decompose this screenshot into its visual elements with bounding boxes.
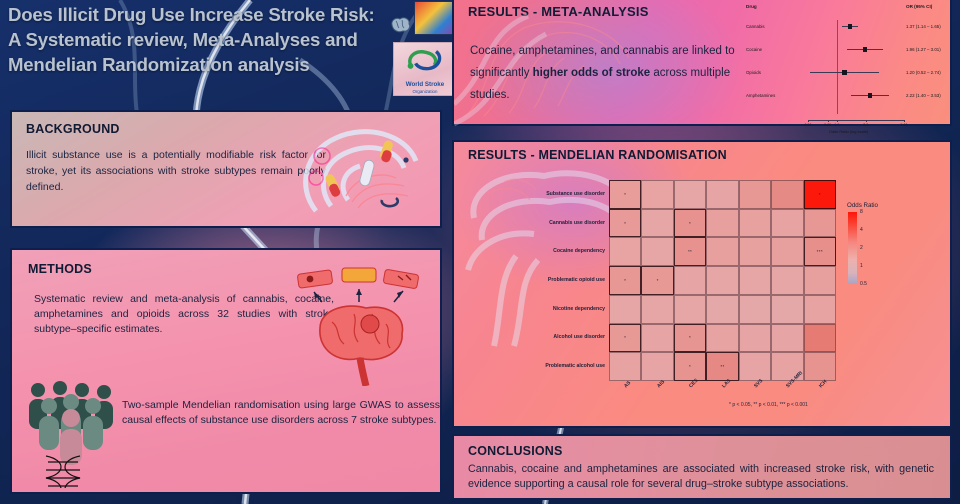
heatmap-cell: ** bbox=[674, 237, 706, 266]
background-text: Illicit substance use is a potentially m… bbox=[26, 147, 326, 195]
forest-col-header-drug: Drug bbox=[746, 4, 757, 9]
heatmap-cell: * bbox=[641, 266, 673, 295]
heatmap-cell bbox=[609, 295, 641, 324]
title-line-2: A Systematic review, Meta-Analyses and bbox=[8, 27, 408, 52]
heatmap-column-label: AS bbox=[623, 380, 632, 389]
heatmap-row-label: Cocaine dependency bbox=[553, 248, 605, 254]
forest-row-or-value: 2.22 (1.40 – 3.53) bbox=[906, 93, 941, 98]
wso-subname: Organization bbox=[394, 89, 456, 94]
forest-row-label: Amphetamines bbox=[746, 93, 775, 98]
heatmap-cell bbox=[706, 324, 738, 353]
forest-x-tick-label: 0.50 bbox=[798, 123, 818, 127]
conclusions-heading: CONCLUSIONS bbox=[468, 444, 950, 458]
heatmap-cell: * bbox=[609, 324, 641, 353]
heatmap-cell bbox=[804, 324, 836, 353]
title-line-3: Mendelian Randomization analysis bbox=[8, 52, 408, 77]
meta-text-highlight: higher odds of stroke bbox=[533, 67, 651, 79]
forest-row-or-value: 1.37 (1.14 – 1.65) bbox=[906, 24, 941, 29]
forest-x-tick-label: 1.0 bbox=[827, 123, 847, 127]
wso-name: World Stroke bbox=[394, 81, 456, 88]
heatmap-cell bbox=[739, 237, 771, 266]
heatmap-cell bbox=[771, 209, 803, 238]
heatmap-cell bbox=[641, 324, 673, 353]
heatmap-row-label: Alcohol use disorder bbox=[553, 334, 605, 340]
heatmap-cell bbox=[771, 266, 803, 295]
heatmap-cell bbox=[739, 324, 771, 353]
heatmap-cell: *** bbox=[804, 237, 836, 266]
brain-icon bbox=[388, 14, 414, 36]
heatmap-legend-tick: 8 bbox=[860, 209, 863, 215]
forest-x-tick-label: 5.00 bbox=[894, 123, 914, 127]
heatmap-cell: * bbox=[804, 180, 836, 209]
poster-title: Does Illicit Drug Use Increase Stroke Ri… bbox=[8, 2, 408, 77]
heatmap-cell bbox=[739, 209, 771, 238]
heatmap-legend-tick: 0.5 bbox=[860, 281, 867, 287]
heatmap-cell bbox=[674, 266, 706, 295]
heatmap-cell bbox=[609, 237, 641, 266]
heatmap-row-label: Problematic opioid use bbox=[548, 277, 605, 283]
forest-plot: DrugOR (95% CI)Cannabis1.37 (1.14 – 1.65… bbox=[746, 0, 951, 126]
heatmap-row-label: Substance use disorder bbox=[546, 191, 605, 197]
heatmap-significance-note: * p < 0.05, ** p < 0.01, *** p < 0.001 bbox=[729, 402, 808, 408]
heatmap-legend-tick: 4 bbox=[860, 227, 863, 233]
heatmap-cell bbox=[641, 209, 673, 238]
heatmap-row-label: Problematic alcohol use bbox=[545, 363, 605, 369]
methods-text-2: Two-sample Mendelian randomisation using… bbox=[122, 398, 440, 428]
heatmap-row-label: Cannabis use disorder bbox=[549, 220, 605, 226]
wso-swirl-icon bbox=[394, 43, 456, 77]
heatmap-cell bbox=[609, 352, 641, 381]
heatmap-legend-tick: 2 bbox=[860, 245, 863, 251]
heatmap-cell bbox=[641, 295, 673, 324]
forest-point-estimate bbox=[842, 70, 847, 75]
forest-row-label: Cannabis bbox=[746, 24, 765, 29]
heatmap-chart: **************** Odds Ratio 84210.5 * p … bbox=[479, 180, 934, 420]
forest-null-line bbox=[837, 20, 838, 114]
forest-x-tick bbox=[828, 120, 829, 122]
meta-analysis-text: Cocaine, amphetamines, and cannabis are … bbox=[470, 40, 745, 106]
heatmap-cell bbox=[804, 352, 836, 381]
forest-row-or-value: 1.20 (0.52 – 2.74) bbox=[906, 70, 941, 75]
heatmap-cell bbox=[804, 295, 836, 324]
heatmap-cell bbox=[771, 237, 803, 266]
heatmap-cell bbox=[706, 266, 738, 295]
heatmap-cell: * bbox=[674, 324, 706, 353]
forest-row-label: Opioids bbox=[746, 70, 761, 75]
forest-row-or-value: 1.96 (1.27 – 3.01) bbox=[906, 47, 941, 52]
heatmap-legend: Odds Ratio 84210.5 bbox=[847, 202, 917, 211]
heatmap-legend-tick: 1 bbox=[860, 263, 863, 269]
heatmap-cell bbox=[706, 209, 738, 238]
forest-x-tick bbox=[866, 120, 867, 122]
heatmap-cell: * bbox=[674, 352, 706, 381]
heatmap-cell bbox=[771, 180, 803, 209]
forest-point-estimate bbox=[863, 47, 868, 52]
methods-panel: METHODS Systematic review and meta-analy… bbox=[10, 248, 442, 494]
heatmap-legend-title: Odds Ratio bbox=[847, 202, 917, 209]
results-meta-analysis-panel: RESULTS - META-ANALYSIS Cocaine, ampheta… bbox=[452, 0, 952, 126]
heatmap-cell: * bbox=[609, 180, 641, 209]
title-line-1: Does Illicit Drug Use Increase Stroke Ri… bbox=[8, 2, 408, 27]
journal-cover-logo bbox=[414, 1, 456, 35]
heatmap-cell bbox=[706, 295, 738, 324]
heatmap-cell bbox=[771, 324, 803, 353]
forest-x-tick bbox=[904, 120, 905, 122]
heatmap-cell bbox=[739, 295, 771, 324]
forest-row-label: Cocaine bbox=[746, 47, 762, 52]
forest-x-axis bbox=[808, 120, 904, 121]
heatmap-cell: ** bbox=[706, 352, 738, 381]
conclusions-text: Cannabis, cocaine and amphetamines are a… bbox=[468, 462, 934, 492]
heatmap-cell bbox=[641, 237, 673, 266]
heatmap-cell bbox=[804, 266, 836, 295]
background-panel: BACKGROUND Illicit substance use is a po… bbox=[10, 110, 442, 228]
heatmap-row-label: Nicotine dependency bbox=[553, 306, 605, 312]
heatmap-cell bbox=[674, 295, 706, 324]
poster-canvas: Does Illicit Drug Use Increase Stroke Ri… bbox=[0, 0, 960, 504]
brain-vessel-illustration bbox=[284, 258, 434, 386]
heatmap-cell bbox=[739, 180, 771, 209]
forest-x-tick bbox=[808, 120, 809, 122]
results-mendelian-randomisation-panel: RESULTS - MENDELIAN RANDOMISATION ******… bbox=[452, 140, 952, 428]
heatmap-cell bbox=[739, 266, 771, 295]
heatmap-cell: * bbox=[609, 266, 641, 295]
heatmap-cell: * bbox=[609, 209, 641, 238]
world-stroke-organization-logo: World Stroke Organization bbox=[393, 42, 457, 96]
forest-col-header-or: OR (95% CI) bbox=[906, 4, 932, 9]
heatmap-cell bbox=[641, 352, 673, 381]
journal-cover-text bbox=[415, 2, 455, 4]
heatmap-cell bbox=[641, 180, 673, 209]
heatmap-cell bbox=[739, 352, 771, 381]
heatmap-cell: * bbox=[674, 209, 706, 238]
forest-point-estimate bbox=[868, 93, 873, 98]
forest-x-axis-label: Odds Ratio (log scale) bbox=[746, 129, 951, 134]
heatmap-legend-colorbar bbox=[848, 212, 857, 284]
heatmap-cell bbox=[706, 237, 738, 266]
forest-x-tick-label: 2.0 bbox=[856, 123, 876, 127]
heatmap-cell bbox=[674, 180, 706, 209]
heatmap-cell bbox=[706, 180, 738, 209]
heatmap-grid: **************** bbox=[609, 180, 836, 381]
people-group-icon bbox=[22, 378, 132, 488]
forest-x-tick bbox=[837, 120, 838, 122]
forest-point-estimate bbox=[848, 24, 853, 29]
conclusions-panel: CONCLUSIONS Cannabis, cocaine and amphet… bbox=[452, 434, 952, 500]
heatmap-cell bbox=[804, 209, 836, 238]
brain-pills-illustration bbox=[286, 116, 436, 226]
heatmap-cell bbox=[771, 295, 803, 324]
